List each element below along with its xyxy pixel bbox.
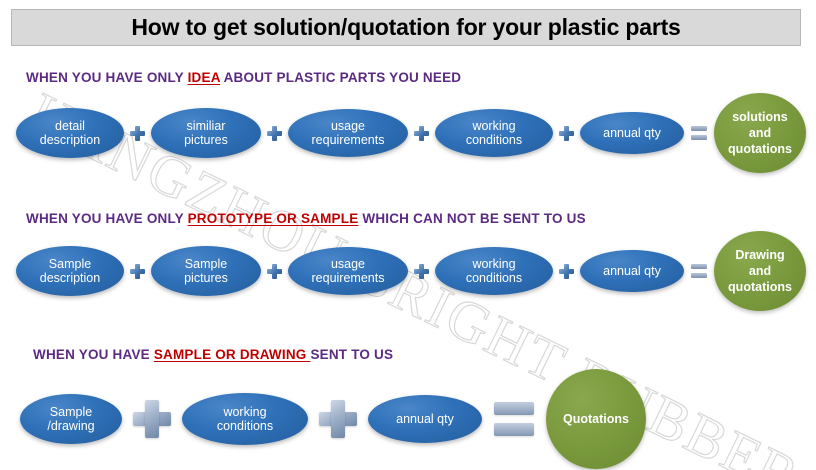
flow-result-drawing-quotations[interactable]: Drawing and quotations (714, 231, 806, 311)
section-header-1: WHEN YOU HAVE ONLY IDEA ABOUT PLASTIC PA… (26, 70, 461, 85)
equals-icon (494, 402, 534, 436)
plus-icon (559, 264, 574, 279)
flow-node-sample-drawing[interactable]: Sample /drawing (20, 394, 122, 444)
flow-node-label: working conditions (460, 119, 528, 148)
section-header-3-suffix: SENT TO US (310, 347, 393, 362)
flow-node-working-conditions[interactable]: working conditions (435, 109, 553, 157)
flow-node-annual-qty[interactable]: annual qty (368, 395, 482, 443)
section-header-2-emphasis: PROTOTYPE OR SAMPLE (188, 211, 359, 226)
flow-result-quotations[interactable]: Quotations (546, 369, 646, 469)
equals-icon (691, 126, 707, 140)
plus-icon (130, 264, 145, 279)
flow-node-detail-description[interactable]: detail description (16, 108, 124, 158)
flow-node-annual-qty[interactable]: annual qty (580, 250, 684, 292)
section-header-1-emphasis: IDEA (188, 70, 221, 85)
section-header-2-suffix: WHICH CAN NOT BE SENT TO US (358, 211, 585, 226)
section-header-2: WHEN YOU HAVE ONLY PROTOTYPE OR SAMPLE W… (26, 211, 586, 226)
section-header-3: WHEN YOU HAVE SAMPLE OR DRAWING SENT TO … (33, 347, 393, 362)
flow-row-1: detail description similiar pictures usa… (16, 93, 806, 173)
section-header-1-prefix: WHEN YOU HAVE ONLY (26, 70, 188, 85)
page-title-box: How to get solution/quotation for your p… (11, 9, 801, 46)
flow-node-similiar-pictures[interactable]: similiar pictures (151, 108, 261, 158)
flow-node-label: annual qty (390, 412, 460, 426)
section-header-3-prefix: WHEN YOU HAVE (33, 347, 154, 362)
section-header-3-emphasis: SAMPLE OR DRAWING (154, 347, 311, 362)
plus-icon (414, 264, 429, 279)
flow-result-label: Drawing and quotations (724, 247, 796, 295)
flow-node-label: similiar pictures (178, 119, 234, 148)
section-header-1-suffix: ABOUT PLASTIC PARTS YOU NEED (220, 70, 461, 85)
plus-icon (267, 126, 282, 141)
flow-row-3: Sample /drawing working conditions annua… (20, 369, 646, 469)
flow-node-label: detail description (34, 119, 106, 148)
flow-node-usage-requirements[interactable]: usage requirements (288, 247, 408, 295)
flow-node-annual-qty[interactable]: annual qty (580, 112, 684, 154)
flow-node-sample-description[interactable]: Sample description (16, 246, 124, 296)
flow-node-label: annual qty (597, 264, 667, 278)
flow-node-label: working conditions (460, 257, 528, 286)
flow-node-label: annual qty (597, 126, 667, 140)
plus-icon (267, 264, 282, 279)
flow-node-label: working conditions (211, 405, 279, 434)
equals-icon (691, 264, 707, 278)
plus-icon (414, 126, 429, 141)
page-title: How to get solution/quotation for your p… (131, 14, 680, 41)
flow-node-working-conditions[interactable]: working conditions (435, 247, 553, 295)
plus-icon (559, 126, 574, 141)
flow-node-label: Sample pictures (178, 257, 234, 286)
section-header-2-prefix: WHEN YOU HAVE ONLY (26, 211, 188, 226)
plus-icon (133, 400, 171, 438)
flow-result-label: Quotations (559, 411, 633, 427)
flow-node-label: usage requirements (306, 119, 391, 148)
flow-row-2: Sample description Sample pictures usage… (16, 231, 806, 311)
flow-node-label: Sample description (34, 257, 106, 286)
flow-node-label: Sample /drawing (41, 405, 100, 434)
flow-node-usage-requirements[interactable]: usage requirements (288, 109, 408, 157)
flow-node-working-conditions[interactable]: working conditions (182, 393, 308, 445)
flow-node-label: usage requirements (306, 257, 391, 286)
flow-node-sample-pictures[interactable]: Sample pictures (151, 246, 261, 296)
plus-icon (319, 400, 357, 438)
flow-result-solutions-quotations[interactable]: solutions and quotations (714, 93, 806, 173)
flow-result-label: solutions and quotations (724, 109, 796, 157)
plus-icon (130, 126, 145, 141)
